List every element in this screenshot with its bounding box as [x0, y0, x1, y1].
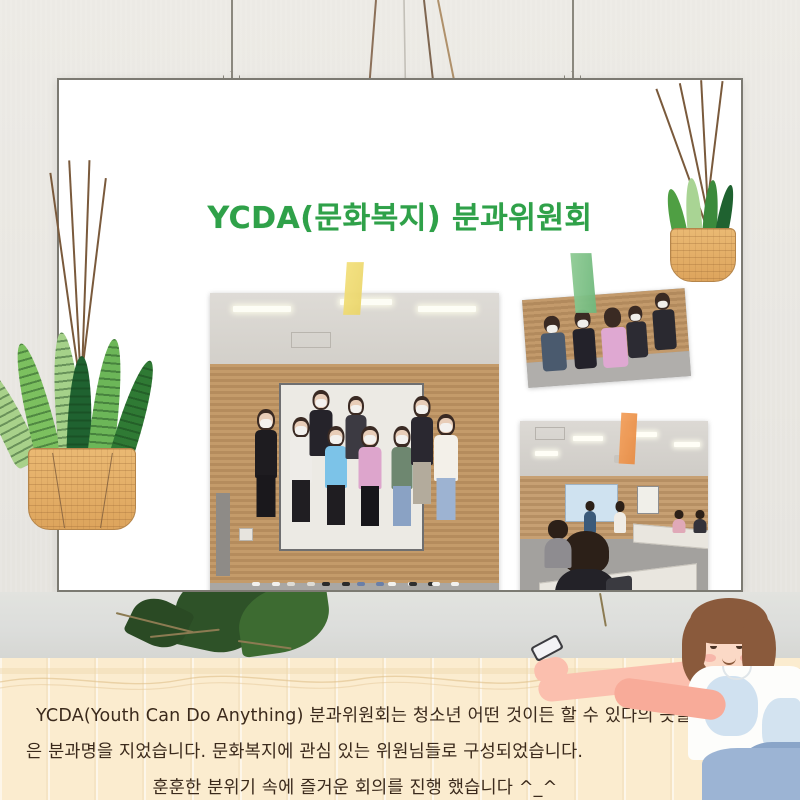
green-tape — [570, 253, 596, 313]
seated-person — [691, 510, 708, 540]
ceiling-vent — [291, 332, 331, 348]
woman-hair-left-side — [686, 618, 706, 670]
plant-basket — [670, 228, 736, 282]
backpack — [606, 575, 632, 592]
standing-talk-photo[interactable] — [522, 288, 691, 388]
hanging-plant-right — [652, 80, 743, 286]
orange-tape — [619, 413, 638, 465]
ceiling-light — [674, 442, 700, 447]
photo-frame: YCDA(문화복지) 분과위원회 — [57, 78, 743, 592]
person — [250, 409, 282, 583]
ceiling-light — [418, 306, 476, 312]
person — [355, 422, 387, 583]
meeting-room-photo[interactable] — [520, 421, 708, 592]
podium — [216, 493, 230, 577]
ceiling-light — [233, 306, 291, 312]
wall-outlet — [239, 528, 253, 541]
person — [536, 315, 569, 372]
seated-person — [543, 520, 573, 575]
plant-basket — [28, 448, 136, 530]
woman-eye-left — [710, 646, 717, 649]
group-photo[interactable] — [210, 293, 499, 592]
person — [569, 309, 599, 369]
ceiling-vent — [535, 427, 565, 440]
ceiling-light — [573, 436, 603, 441]
illustrated-woman — [630, 592, 800, 800]
seated-person — [670, 510, 687, 540]
person — [624, 309, 651, 365]
woman-pants — [702, 748, 800, 800]
ceiling-light — [535, 451, 558, 456]
page-title: YCDA(문화복지) 분과위원회 — [59, 193, 741, 237]
hanging-plant-left — [8, 160, 158, 470]
frame-hanger-wire-left — [231, 0, 233, 78]
frame-hanger-wire-right — [572, 0, 574, 78]
whiteboard — [637, 486, 660, 513]
person — [650, 299, 681, 362]
person — [430, 412, 462, 583]
presenter — [612, 501, 627, 543]
